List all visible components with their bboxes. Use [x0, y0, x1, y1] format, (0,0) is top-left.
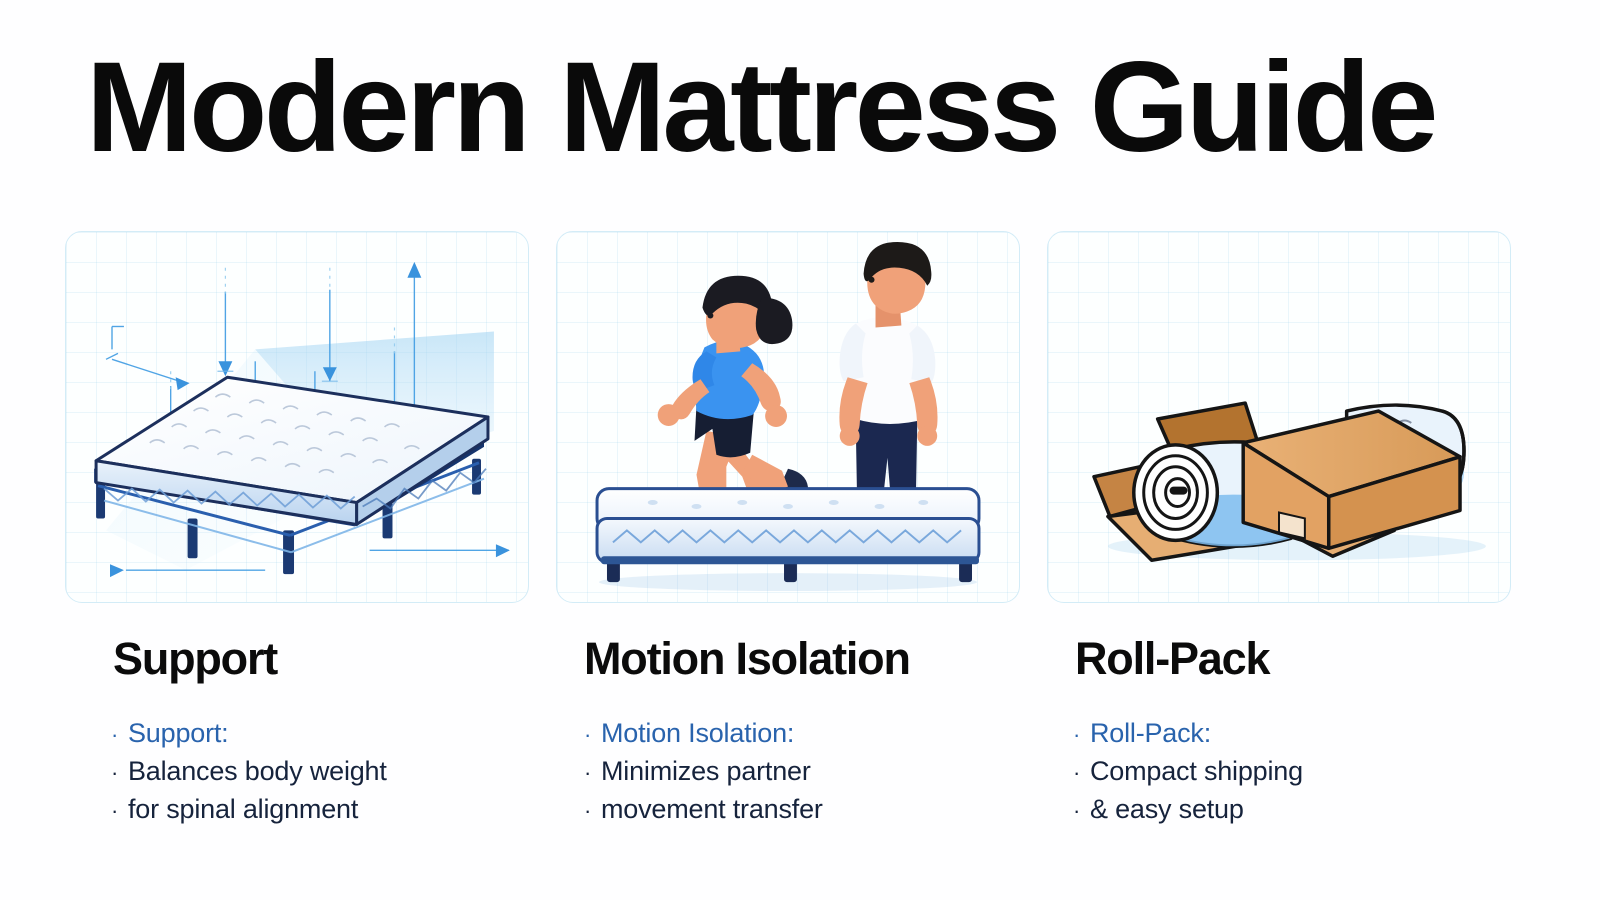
bullet-text: movement transfer [601, 791, 823, 827]
bullet-text: Compact shipping [1090, 753, 1303, 789]
list-item: · & easy setup [1073, 791, 1303, 829]
bullet-dot: · [111, 793, 128, 829]
illustration-card-support [65, 231, 529, 603]
bullet-dot: · [1073, 793, 1090, 829]
bullet-dot: · [111, 755, 128, 791]
infographic-page: Modern Mattress Guide [0, 0, 1600, 900]
bullet-text: Minimizes partner [601, 753, 811, 789]
bullet-dot: · [1073, 755, 1090, 791]
rolled-mattress-in-box-icon [1048, 232, 1510, 602]
list-item: · Support: [111, 715, 387, 753]
text-column-row: Support · Support: · Balances body weigh… [65, 634, 1535, 864]
bullet-dot: · [584, 755, 601, 791]
bullet-list: · Support: · Balances body weight · for … [111, 715, 387, 829]
list-item: · Minimizes partner [584, 753, 823, 791]
text-column-motion-isolation: Motion Isolation · Motion Isolation: · M… [556, 634, 1020, 864]
bullet-text: Balances body weight [128, 753, 387, 789]
page-title: Modern Mattress Guide [86, 44, 1435, 172]
bullet-list: · Roll-Pack: · Compact shipping · & easy… [1073, 715, 1303, 829]
illustration-card-row [65, 231, 1535, 603]
bullet-text: for spinal alignment [128, 791, 358, 827]
text-column-roll-pack: Roll-Pack · Roll-Pack: · Compact shippin… [1047, 634, 1511, 864]
list-item: · Balances body weight [111, 753, 387, 791]
bullet-text: Support: [128, 715, 228, 751]
illustration-card-roll-pack [1047, 231, 1511, 603]
column-heading: Support [113, 634, 277, 684]
illustration-card-motion-isolation [556, 231, 1020, 603]
list-item: · Motion Isolation: [584, 715, 823, 753]
bullet-dot: · [1073, 717, 1090, 753]
bullet-dot: · [111, 717, 128, 753]
list-item: · Roll-Pack: [1073, 715, 1303, 753]
column-heading: Motion Isolation [584, 634, 910, 684]
bullet-list: · Motion Isolation: · Minimizes partner … [584, 715, 823, 829]
bullet-text: & easy setup [1090, 791, 1244, 827]
text-column-support: Support · Support: · Balances body weigh… [65, 634, 529, 864]
two-people-on-mattress-icon [557, 232, 1019, 602]
bullet-text: Roll-Pack: [1090, 715, 1211, 751]
column-heading: Roll-Pack [1075, 634, 1269, 684]
list-item: · Compact shipping [1073, 753, 1303, 791]
isometric-mattress-blueprint-icon [66, 232, 528, 602]
bullet-dot: · [584, 717, 601, 753]
bullet-text: Motion Isolation: [601, 715, 794, 751]
bullet-dot: · [584, 793, 601, 829]
list-item: · movement transfer [584, 791, 823, 829]
list-item: · for spinal alignment [111, 791, 387, 829]
